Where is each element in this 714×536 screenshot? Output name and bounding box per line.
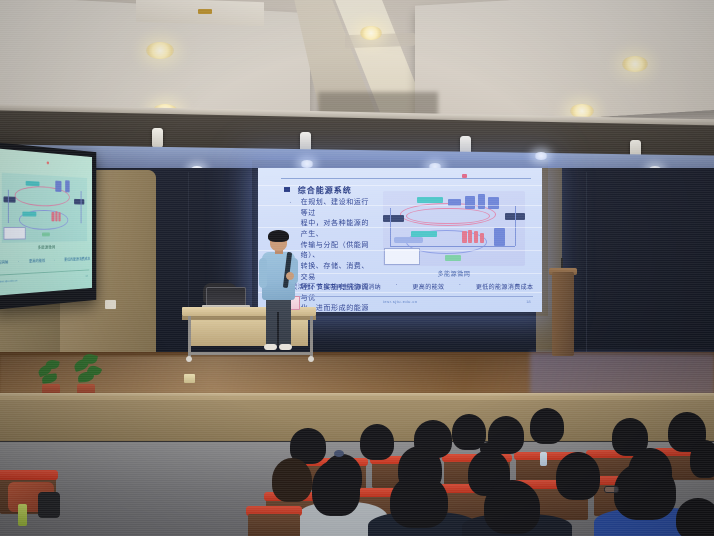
- side-slide-rule: [0, 270, 90, 276]
- slide-page-number: 18: [526, 299, 530, 304]
- wall-socket-icon: [105, 300, 116, 309]
- lecture-hall-photo: 多能源微网 的消纳 · 更高的能效 · 更低的能源消费成本 iesr.sjtu.…: [0, 0, 714, 536]
- slide-energy-network-diagram: [383, 191, 525, 266]
- slide-bottom-bullet-2: 更高的能效: [412, 282, 444, 291]
- seat-back: [248, 514, 300, 536]
- side-bullet-2: 更高的能效: [29, 258, 45, 264]
- track-spotlight: [152, 128, 163, 148]
- audience-head: [690, 440, 714, 478]
- side-slide-accent-dot: [47, 161, 49, 164]
- side-bullet-sep-1: ·: [18, 259, 19, 265]
- side-bullet-1: 的消纳: [0, 260, 8, 266]
- slide-body-text: 在规划、建设和运行等过 程中，对各种能源的产生、 传输与分配（供能网络）、 转换…: [301, 198, 372, 312]
- side-slide-caption: 多能源微网: [0, 243, 92, 251]
- slide-top-rule: [281, 178, 531, 179]
- ceiling-downlight: [622, 56, 648, 72]
- slide-bottom-bullet-3: 更低的能源消费成本: [476, 282, 534, 291]
- stage-floor-blue-light: [530, 352, 714, 394]
- hair-bun: [480, 442, 498, 456]
- hair-tie: [334, 450, 344, 457]
- side-slide-diagram: [2, 172, 87, 242]
- table-caster: [186, 356, 192, 362]
- seat-top: [0, 470, 58, 480]
- side-slide-footer-url: iesr.sjtu.edu.cn: [0, 278, 17, 283]
- table-caster: [308, 356, 314, 362]
- glasses-icon: [604, 486, 619, 493]
- audience-head: [676, 498, 714, 536]
- water-bottle-on-seat: [540, 452, 547, 466]
- audience-head: [312, 460, 360, 516]
- podium: [552, 272, 574, 356]
- speaker-hand: [286, 272, 294, 280]
- table-crossbar: [188, 352, 312, 355]
- audience-head: [614, 462, 676, 520]
- ceiling-downlight: [146, 42, 174, 59]
- main-projection-screen: 综合能源系统 · 在规划、建设和运行等过 程中，对各种能源的产生、 传输与分配（…: [258, 168, 542, 312]
- slide-body-line: 程中，对各种能源的产生、: [301, 219, 372, 240]
- side-bullet-3: 更低的能源消费成本: [64, 257, 90, 264]
- side-projection-screen: 多能源微网 的消纳 · 更高的能效 · 更低的能源消费成本 iesr.sjtu.…: [0, 142, 96, 310]
- slide-bottom-sep-1: ·: [396, 282, 398, 291]
- slide-bottom-sep-2: ·: [459, 282, 461, 291]
- speaker-hair: [268, 230, 289, 242]
- speaker-arm-right: [290, 258, 298, 284]
- ceiling-panel-right: [415, 0, 714, 128]
- wall-seam: [586, 172, 587, 362]
- speaker-leg-gap: [277, 312, 279, 346]
- slide-body-line: 传输与分配（供能网络）、: [301, 241, 372, 262]
- speaker-shoe-right: [279, 344, 292, 350]
- audience-head: [530, 408, 564, 444]
- auditorium-side-wall: [0, 400, 714, 446]
- slide-title-bullet-icon: [284, 187, 290, 192]
- audience-head: [484, 480, 540, 534]
- slide-title: 综合能源系统: [298, 185, 352, 196]
- ceiling-downlight: [360, 26, 382, 40]
- blue-ceiling-downlight: [534, 152, 548, 160]
- audience-head: [360, 424, 394, 460]
- audience-head: [390, 474, 448, 528]
- speaker-arm-left: [259, 258, 267, 288]
- drink-bottle: [18, 504, 27, 526]
- audience-head: [272, 458, 312, 502]
- backpack-strap: [38, 492, 60, 518]
- slide-footer-url: iesr.sjtu.edu.cn: [383, 299, 418, 304]
- speaker-shoe-left: [264, 344, 277, 350]
- slide-accent-dot: [462, 174, 467, 178]
- side-slide-bottom-bullets: 的消纳 · 更高的能效 · 更低的能源消费成本: [0, 257, 90, 267]
- side-slide-page-number: 18: [85, 274, 87, 278]
- stage-prop-box: [184, 374, 195, 383]
- slide-body-line: 在规划、建设和运行等过: [301, 198, 372, 219]
- ceiling-vent-slot: [198, 9, 212, 14]
- audience-head: [556, 452, 600, 500]
- slide-bottom-bullets: 的互补灵活性、支撑可再生能源的消纳 · 更高的能效 · 更低的能源消费成本: [272, 282, 533, 291]
- slide-bottom-rule: [272, 296, 533, 297]
- side-bullet-sep-2: ·: [54, 258, 55, 264]
- side-screen-surface: 多能源微网 的消纳 · 更高的能效 · 更低的能源消费成本 iesr.sjtu.…: [0, 148, 92, 295]
